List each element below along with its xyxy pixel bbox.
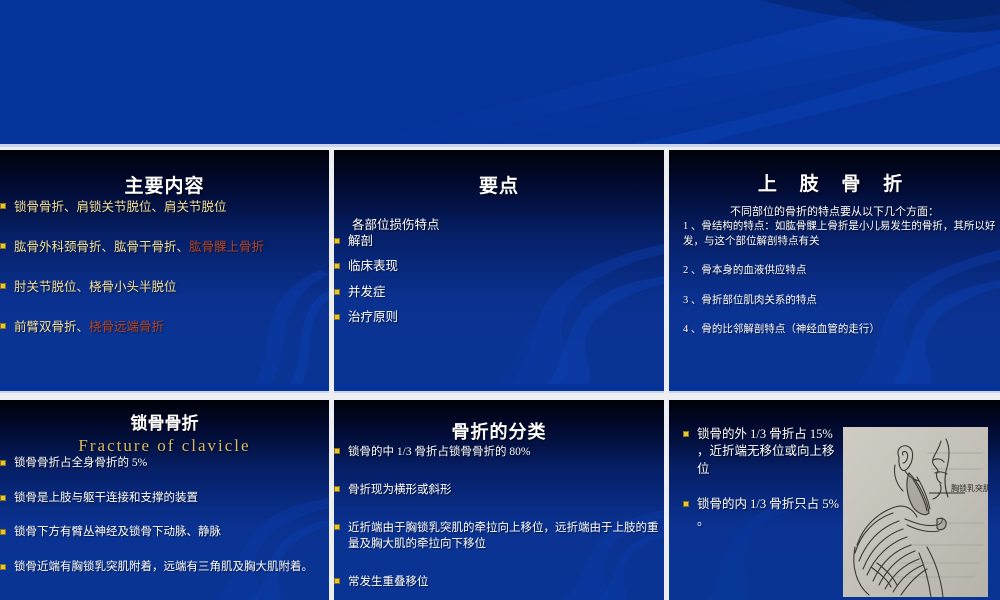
- bullet-text: 锁骨的内 1/3 骨折只占 5% 。: [697, 497, 839, 528]
- list-item: 治疗原则: [334, 309, 664, 325]
- list-item: 近折端由于胸锁乳突肌的牵拉向上移位，远折端由于上肢的重量及胸大肌的牵拉向下移位: [334, 520, 664, 552]
- slide-content: 要点 各部位损伤特点 解剖 临床表现 并发症 治疗原则: [334, 150, 664, 393]
- slide-clavicle-thirds[interactable]: 锁骨的外 1/3 骨折占 15% ，近折端无移位或向上移位 锁骨的内 1/3 骨…: [669, 400, 1000, 600]
- list-item-text: 1 、骨结构的特点：如肱骨髁上骨折是小儿易发生的骨折，其所以好发，与这个部位解剖…: [683, 221, 995, 247]
- list-item: 锁骨骨折、肩锁关节脱位、肩关节脱位: [0, 198, 329, 216]
- bullet-text: 肘关节脱位、桡骨小头半脱位: [14, 280, 177, 294]
- slide-text-column: 锁骨的外 1/3 骨折占 15% ，近折端无移位或向上移位 锁骨的内 1/3 骨…: [669, 426, 841, 600]
- bullet-list: 锁骨骨折、肩锁关节脱位、肩关节脱位 肱骨外科颈骨折、肱骨干骨折、肱骨髁上骨折 肘…: [0, 198, 329, 337]
- numbered-list: 1 、骨结构的特点：如肱骨髁上骨折是小儿易发生的骨折，其所以好发，与这个部位解剖…: [669, 219, 1000, 337]
- page-title: 主要内容: [0, 150, 329, 198]
- list-item: 临床表现: [334, 258, 664, 274]
- bullet-text: 解剖: [348, 234, 373, 248]
- bullet-text: 治疗原则: [348, 310, 398, 324]
- list-item: 骨折现为横形或斜形: [334, 482, 664, 498]
- bullet-list: 锁骨骨折占全身骨折的 5% 锁骨是上肢与躯干连接和支撑的装置 锁骨下方有臂丛神经…: [0, 456, 329, 575]
- slide-row-top: 主要内容 锁骨骨折、肩锁关节脱位、肩关节脱位 肱骨外科颈骨折、肱骨干骨折、肱骨髁…: [0, 150, 1000, 393]
- bullet-list: 锁骨的中 1/3 骨折占锁骨骨折的 80% 骨折现为横形或斜形 近折端由于胸锁乳…: [334, 444, 664, 590]
- lead-text: 各部位损伤特点: [334, 198, 664, 233]
- list-item: 3 、骨折部位肌肉关系的特点: [669, 293, 1000, 308]
- bullet-text: 锁骨的中 1/3 骨折占锁骨骨折的 80%: [348, 446, 530, 458]
- bullet-text: 锁骨骨折占全身骨折的 5%: [14, 457, 147, 469]
- list-item: 锁骨近端有胸锁乳突肌附着，远端有三角肌及胸大肌附着。: [0, 560, 329, 576]
- slide-upper-limb-fracture[interactable]: 上 肢 骨 折 不同部位的骨折的特点要从以下几个方面： 1 、骨结构的特点：如肱…: [669, 150, 1000, 393]
- bullet-text: 锁骨是上肢与躯干连接和支撑的装置: [14, 492, 198, 504]
- list-item: 常发生重叠移位: [334, 574, 664, 590]
- bullet-text: 锁骨骨折、肩锁关节脱位、肩关节脱位: [14, 200, 227, 214]
- page-title: 上 肢 骨 折: [669, 150, 1000, 196]
- bullet-text: 锁骨的外 1/3 骨折占 15% ，近折端无移位或向上移位: [697, 427, 835, 476]
- page-title: 骨折的分类: [334, 400, 664, 444]
- anatomy-sketch-image: 胸锁乳突肌: [843, 427, 988, 597]
- list-item-text: 3 、骨折部位肌肉关系的特点: [683, 295, 817, 306]
- bullet-text: 近折端由于胸锁乳突肌的牵拉向上移位，远折端由于上肢的重量及胸大肌的牵拉向下移位: [348, 522, 659, 550]
- list-item: 肘关节脱位、桡骨小头半脱位: [0, 278, 329, 296]
- bullet-text: 前臂双骨折、: [14, 320, 89, 334]
- slide-key-points[interactable]: 要点 各部位损伤特点 解剖 临床表现 并发症 治疗原则: [334, 150, 664, 393]
- page-subtitle-english: Fracture of clavicle: [0, 436, 329, 456]
- slide-content: 主要内容 锁骨骨折、肩锁关节脱位、肩关节脱位 肱骨外科颈骨折、肱骨干骨折、肱骨髁…: [0, 150, 329, 393]
- list-item: 锁骨的内 1/3 骨折只占 5% 。: [683, 496, 841, 531]
- slide-subhead: 不同部位的骨折的特点要从以下几个方面：: [669, 203, 1000, 219]
- banner-swoosh-decoration: [0, 0, 1000, 147]
- bullet-list: 锁骨的外 1/3 骨折占 15% ，近折端无移位或向上移位 锁骨的内 1/3 骨…: [683, 426, 841, 530]
- bullet-text: 常发生重叠移位: [348, 576, 429, 588]
- list-item: 锁骨的中 1/3 骨折占锁骨骨折的 80%: [334, 444, 664, 460]
- list-item: 2 、骨本身的血液供应特点: [669, 263, 1000, 278]
- list-item: 肱骨外科颈骨折、肱骨干骨折、肱骨髁上骨折: [0, 238, 329, 256]
- list-item-text: 2 、骨本身的血液供应特点: [683, 265, 806, 276]
- slide-content: 骨折的分类 锁骨的中 1/3 骨折占锁骨骨折的 80% 骨折现为横形或斜形 近折…: [334, 400, 664, 600]
- figure-label: 胸锁乳突肌: [951, 483, 988, 493]
- list-item-text: 4 、骨的比邻解剖特点（神经血管的走行）: [683, 324, 880, 335]
- banner-bottom-rule: [0, 144, 1000, 147]
- bullet-text: 临床表现: [348, 259, 398, 273]
- slide-main-contents[interactable]: 主要内容 锁骨骨折、肩锁关节脱位、肩关节脱位 肱骨外科颈骨折、肱骨干骨折、肱骨髁…: [0, 150, 329, 393]
- list-item: 锁骨的外 1/3 骨折占 15% ，近折端无移位或向上移位: [683, 426, 841, 478]
- slide-fracture-classification[interactable]: 骨折的分类 锁骨的中 1/3 骨折占锁骨骨折的 80% 骨折现为横形或斜形 近折…: [334, 400, 664, 600]
- list-item: 锁骨下方有臂丛神经及锁骨下动脉、静脉: [0, 525, 329, 541]
- list-item: 解剖: [334, 233, 664, 249]
- page-title: 锁骨骨折: [0, 400, 329, 434]
- list-item: 前臂双骨折、桡骨远端骨折: [0, 318, 329, 336]
- bullet-text: 骨折现为横形或斜形: [348, 484, 452, 496]
- bullet-text: 锁骨下方有臂丛神经及锁骨下动脉、静脉: [14, 526, 221, 538]
- bullet-text: 肱骨外科颈骨折、肱骨干骨折、: [14, 240, 189, 254]
- list-item: 4 、骨的比邻解剖特点（神经血管的走行）: [669, 322, 1000, 337]
- bullet-text: 锁骨近端有胸锁乳突肌附着，远端有三角肌及胸大肌附着。: [14, 561, 313, 573]
- bullet-list: 解剖 临床表现 并发症 治疗原则: [334, 233, 664, 325]
- bullet-text-highlight: 桡骨远端骨折: [89, 320, 164, 334]
- list-item: 并发症: [334, 284, 664, 300]
- list-item: 锁骨骨折占全身骨折的 5%: [0, 456, 329, 472]
- page-title: 要点: [334, 150, 664, 198]
- slide-content: 锁骨的外 1/3 骨折占 15% ，近折端无移位或向上移位 锁骨的内 1/3 骨…: [669, 400, 1000, 600]
- slide-clavicle-fracture[interactable]: 锁骨骨折 Fracture of clavicle 锁骨骨折占全身骨折的 5% …: [0, 400, 329, 600]
- slide-row-bottom: 锁骨骨折 Fracture of clavicle 锁骨骨折占全身骨折的 5% …: [0, 400, 1000, 600]
- sternocleidomastoid-sketch-figure: 胸锁乳突肌: [843, 427, 988, 597]
- bullet-text: 并发症: [348, 285, 386, 299]
- bullet-text-highlight: 肱骨髁上骨折: [189, 240, 264, 254]
- top-banner: [0, 0, 1000, 147]
- slide-content: 上 肢 骨 折 不同部位的骨折的特点要从以下几个方面： 1 、骨结构的特点：如肱…: [669, 150, 1000, 393]
- list-item: 锁骨是上肢与躯干连接和支撑的装置: [0, 491, 329, 507]
- slide-content: 锁骨骨折 Fracture of clavicle 锁骨骨折占全身骨折的 5% …: [0, 400, 329, 600]
- list-item: 1 、骨结构的特点：如肱骨髁上骨折是小儿易发生的骨折，其所以好发，与这个部位解剖…: [669, 219, 1000, 249]
- slide-grid: 主要内容 锁骨骨折、肩锁关节脱位、肩关节脱位 肱骨外科颈骨折、肱骨干骨折、肱骨髁…: [0, 150, 1000, 600]
- slide-overview-page: 主要内容 锁骨骨折、肩锁关节脱位、肩关节脱位 肱骨外科颈骨折、肱骨干骨折、肱骨髁…: [0, 0, 1000, 600]
